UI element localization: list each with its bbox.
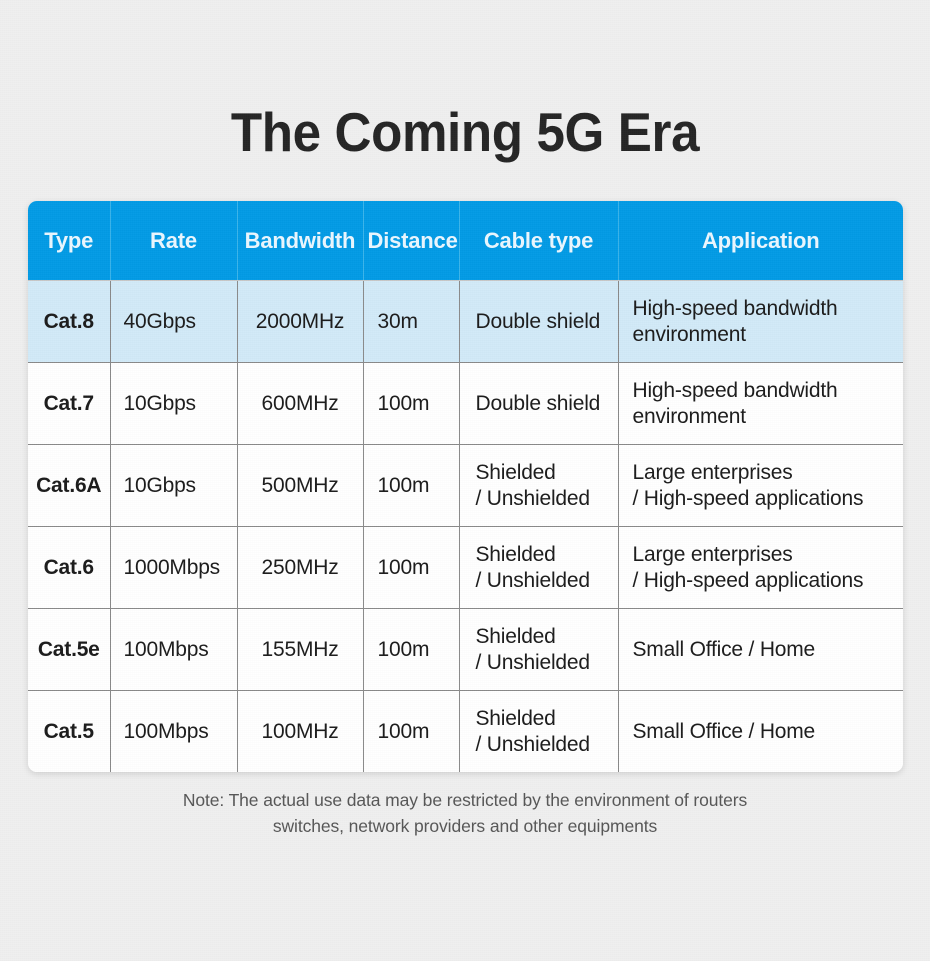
cell-cable-type-line-1: Double shield: [476, 392, 601, 415]
cell-application: Large enterprises/ High-speed applicatio…: [618, 527, 903, 609]
cell-cable-type: Shielded/ Unshielded: [459, 609, 618, 691]
table-row: Cat.840Gbps2000MHz30mDouble shieldHigh-s…: [28, 281, 903, 363]
cell-distance: 30m: [363, 281, 459, 363]
cell-application-line-1: High-speed bandwidth: [633, 297, 838, 320]
cell-distance: 100m: [363, 609, 459, 691]
table-body: Cat.840Gbps2000MHz30mDouble shieldHigh-s…: [28, 281, 903, 773]
cell-distance: 100m: [363, 363, 459, 445]
cell-bandwidth: 155MHz: [237, 609, 363, 691]
cell-type: Cat.6A: [28, 445, 110, 527]
spec-table-card: Type Rate Bandwidth Distance Cable type …: [28, 201, 903, 772]
cell-application-line-1: High-speed bandwidth: [633, 379, 838, 402]
cell-application-line-1: Large enterprises: [633, 543, 793, 566]
cell-distance: 100m: [363, 527, 459, 609]
cell-rate: 100Mbps: [110, 691, 237, 773]
cell-application: Large enterprises/ High-speed applicatio…: [618, 445, 903, 527]
cell-application-line-2: / High-speed applications: [633, 486, 903, 512]
cell-application-line-2: environment: [633, 322, 903, 348]
column-header-distance: Distance: [363, 201, 459, 281]
table-row: Cat.61000Mbps250MHz100mShielded/ Unshiel…: [28, 527, 903, 609]
cell-cable-type-line-2: / Unshielded: [476, 732, 617, 758]
cell-application-line-1: Small Office / Home: [633, 720, 816, 743]
infographic-page: The Coming 5G Era Type Rate Bandwidth Di…: [0, 0, 930, 961]
cell-application-line-2: / High-speed applications: [633, 568, 903, 594]
cell-cable-type: Shielded/ Unshielded: [459, 527, 618, 609]
cell-rate: 1000Mbps: [110, 527, 237, 609]
column-header-application: Application: [618, 201, 903, 281]
table-header-row: Type Rate Bandwidth Distance Cable type …: [28, 201, 903, 281]
cell-cable-type-line-1: Shielded: [476, 707, 556, 730]
column-header-cable-type: Cable type: [459, 201, 618, 281]
cable-spec-table: Type Rate Bandwidth Distance Cable type …: [28, 201, 903, 772]
cell-bandwidth: 100MHz: [237, 691, 363, 773]
table-header: Type Rate Bandwidth Distance Cable type …: [28, 201, 903, 281]
cell-cable-type: Double shield: [459, 281, 618, 363]
cell-application: Small Office / Home: [618, 609, 903, 691]
footnote-line-1: Note: The actual use data may be restric…: [0, 787, 930, 813]
column-header-bandwidth: Bandwidth: [237, 201, 363, 281]
cell-cable-type-line-2: / Unshielded: [476, 650, 617, 676]
cell-bandwidth: 250MHz: [237, 527, 363, 609]
cell-cable-type-line-1: Shielded: [476, 461, 556, 484]
cell-cable-type: Shielded/ Unshielded: [459, 445, 618, 527]
cell-rate: 10Gbps: [110, 445, 237, 527]
cell-cable-type: Double shield: [459, 363, 618, 445]
footnote-line-2: switches, network providers and other eq…: [0, 813, 930, 839]
column-header-type: Type: [28, 201, 110, 281]
cell-application: Small Office / Home: [618, 691, 903, 773]
cell-rate: 40Gbps: [110, 281, 237, 363]
cell-distance: 100m: [363, 691, 459, 773]
cell-bandwidth: 500MHz: [237, 445, 363, 527]
cell-type: Cat.7: [28, 363, 110, 445]
cell-application: High-speed bandwidthenvironment: [618, 363, 903, 445]
cell-cable-type: Shielded/ Unshielded: [459, 691, 618, 773]
cell-cable-type-line-2: / Unshielded: [476, 568, 617, 594]
cell-rate: 10Gbps: [110, 363, 237, 445]
cell-application-line-1: Small Office / Home: [633, 638, 816, 661]
cell-bandwidth: 2000MHz: [237, 281, 363, 363]
cell-cable-type-line-1: Shielded: [476, 543, 556, 566]
table-row: Cat.710Gbps600MHz100mDouble shieldHigh-s…: [28, 363, 903, 445]
footnote: Note: The actual use data may be restric…: [0, 787, 930, 839]
table-row: Cat.6A10Gbps500MHz100mShielded/ Unshield…: [28, 445, 903, 527]
cell-bandwidth: 600MHz: [237, 363, 363, 445]
cell-type: Cat.6: [28, 527, 110, 609]
table-row: Cat.5100Mbps100MHz100mShielded/ Unshield…: [28, 691, 903, 773]
cell-application-line-2: environment: [633, 404, 903, 430]
cell-application: High-speed bandwidthenvironment: [618, 281, 903, 363]
cell-distance: 100m: [363, 445, 459, 527]
cell-cable-type-line-1: Double shield: [476, 310, 601, 333]
cell-type: Cat.5e: [28, 609, 110, 691]
cell-type: Cat.8: [28, 281, 110, 363]
page-title: The Coming 5G Era: [33, 101, 898, 163]
cell-type: Cat.5: [28, 691, 110, 773]
cell-cable-type-line-2: / Unshielded: [476, 486, 617, 512]
cell-cable-type-line-1: Shielded: [476, 625, 556, 648]
column-header-rate: Rate: [110, 201, 237, 281]
cell-application-line-1: Large enterprises: [633, 461, 793, 484]
cell-rate: 100Mbps: [110, 609, 237, 691]
table-row: Cat.5e100Mbps155MHz100mShielded/ Unshiel…: [28, 609, 903, 691]
